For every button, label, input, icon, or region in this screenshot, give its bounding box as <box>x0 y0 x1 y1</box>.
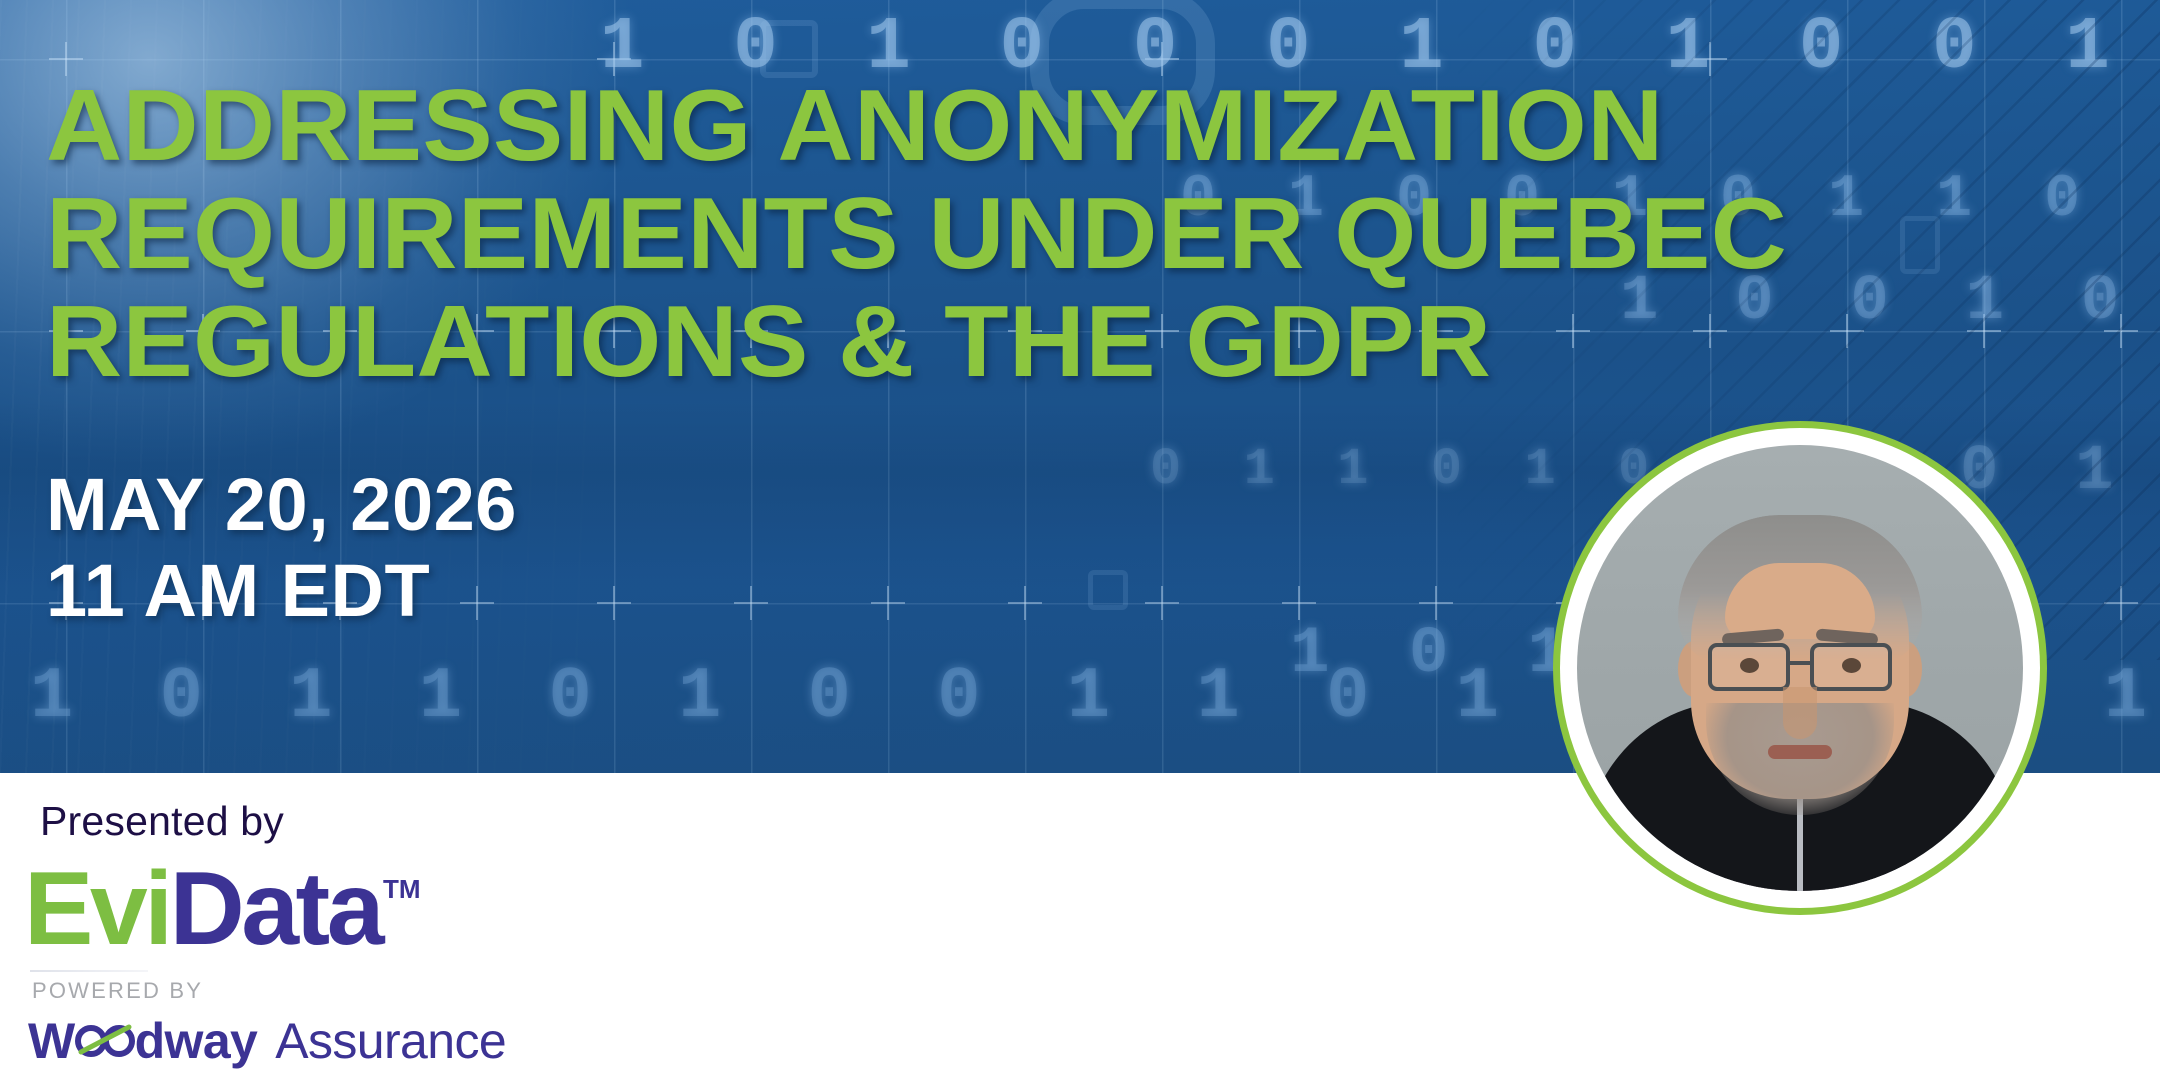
evidata-logo: EviDataTM <box>24 857 419 961</box>
event-date: MAY 20, 2026 <box>46 462 517 548</box>
event-time: 11 AM EDT <box>46 548 517 634</box>
presented-by-label: Presented by <box>40 798 284 845</box>
logo-divider <box>30 970 148 972</box>
event-datetime: MAY 20, 2026 11 AM EDT <box>46 462 517 634</box>
evidata-logo-evi: Evi <box>24 851 170 967</box>
webinar-promo-banner: 1 0 1 0 0 0 1 0 1 0 0 1 0 1 0 0 1 0 0 1 … <box>0 0 2160 1080</box>
avatar <box>1577 445 2023 891</box>
portrait-mouth <box>1768 745 1832 759</box>
headline-line-3: REGULATIONS & THE GDPR <box>46 288 1990 396</box>
woodway-oo-ligature-icon <box>75 1008 135 1058</box>
headline-line-2: REQUIREMENTS UNDER QUEBEC <box>46 180 1990 288</box>
portrait-glasses-right-lens <box>1810 643 1892 691</box>
trademark-icon: TM <box>383 874 421 904</box>
portrait-white-ring <box>1560 428 2040 908</box>
page-title: ADDRESSING ANONYMIZATION REQUIREMENTS UN… <box>46 72 1906 396</box>
speaker-portrait <box>1553 421 2047 915</box>
evidata-logo-data: Data <box>170 851 381 967</box>
headline-line-1: ADDRESSING ANONYMIZATION <box>46 72 1990 180</box>
woodway-assurance: Assurance <box>275 1016 506 1066</box>
portrait-glasses-left-lens <box>1708 643 1790 691</box>
woodway-w: W <box>28 1016 75 1066</box>
powered-by-label: POWERED BY <box>32 978 203 1004</box>
portrait-forehead <box>1725 563 1875 639</box>
portrait-glasses-bridge <box>1790 661 1810 665</box>
woodway-assurance-logo: W dway Assurance <box>28 1008 506 1066</box>
portrait-nose <box>1783 687 1817 739</box>
woodway-dway: dway <box>135 1016 258 1066</box>
